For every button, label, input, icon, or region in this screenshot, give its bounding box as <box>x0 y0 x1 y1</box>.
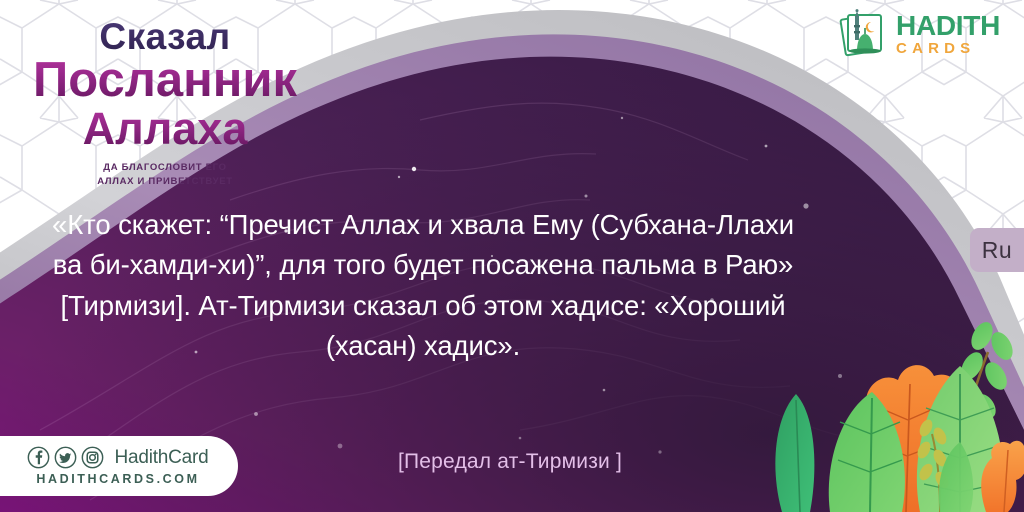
mosque-card-icon <box>835 8 889 60</box>
hadith-text: «Кто скажет: “Пречист Аллах и хвала Ему … <box>38 205 808 367</box>
headline-subtitle: ДА БЛАГОСЛОВИТ ЕГО АЛЛАХ И ПРИВЕТСТВУЕТ <box>0 161 330 189</box>
footer-handle: HadithCard <box>114 447 208 469</box>
headline-line-3: Аллаха <box>0 106 330 152</box>
footer-social-row: HadithCard <box>27 446 208 469</box>
headline-block: Сказал Посланник Аллаха ДА БЛАГОСЛОВИТ Е… <box>0 18 330 188</box>
headline-line-1: Сказал <box>0 18 330 55</box>
headline-subtitle-line-1: ДА БЛАГОСЛОВИТ ЕГО <box>0 161 330 175</box>
narrator-attribution: [Передал ат-Тирмизи ] <box>230 450 790 474</box>
hadith-card-root: Сказал Посланник Аллаха ДА БЛАГОСЛОВИТ Е… <box>0 0 1024 512</box>
twitter-icon[interactable] <box>54 446 77 469</box>
brand-wordmark: HADITH CARDS <box>896 12 1000 56</box>
brand-logo[interactable]: HADITH CARDS <box>835 8 1000 60</box>
footer-branding-pill: HadithCard HADITHCARDS.COM <box>0 436 238 496</box>
footer-website: HADITHCARDS.COM <box>36 472 199 486</box>
facebook-icon[interactable] <box>27 446 50 469</box>
language-badge-ru[interactable]: Ru <box>970 228 1024 272</box>
headline-subtitle-line-2: АЛЛАХ И ПРИВЕТСТВУЕТ <box>0 175 330 189</box>
instagram-icon[interactable] <box>81 446 104 469</box>
headline-line-2: Посланник <box>0 56 330 106</box>
brand-word-hadith: HADITH <box>896 12 1000 40</box>
brand-word-cards: CARDS <box>896 41 1000 56</box>
